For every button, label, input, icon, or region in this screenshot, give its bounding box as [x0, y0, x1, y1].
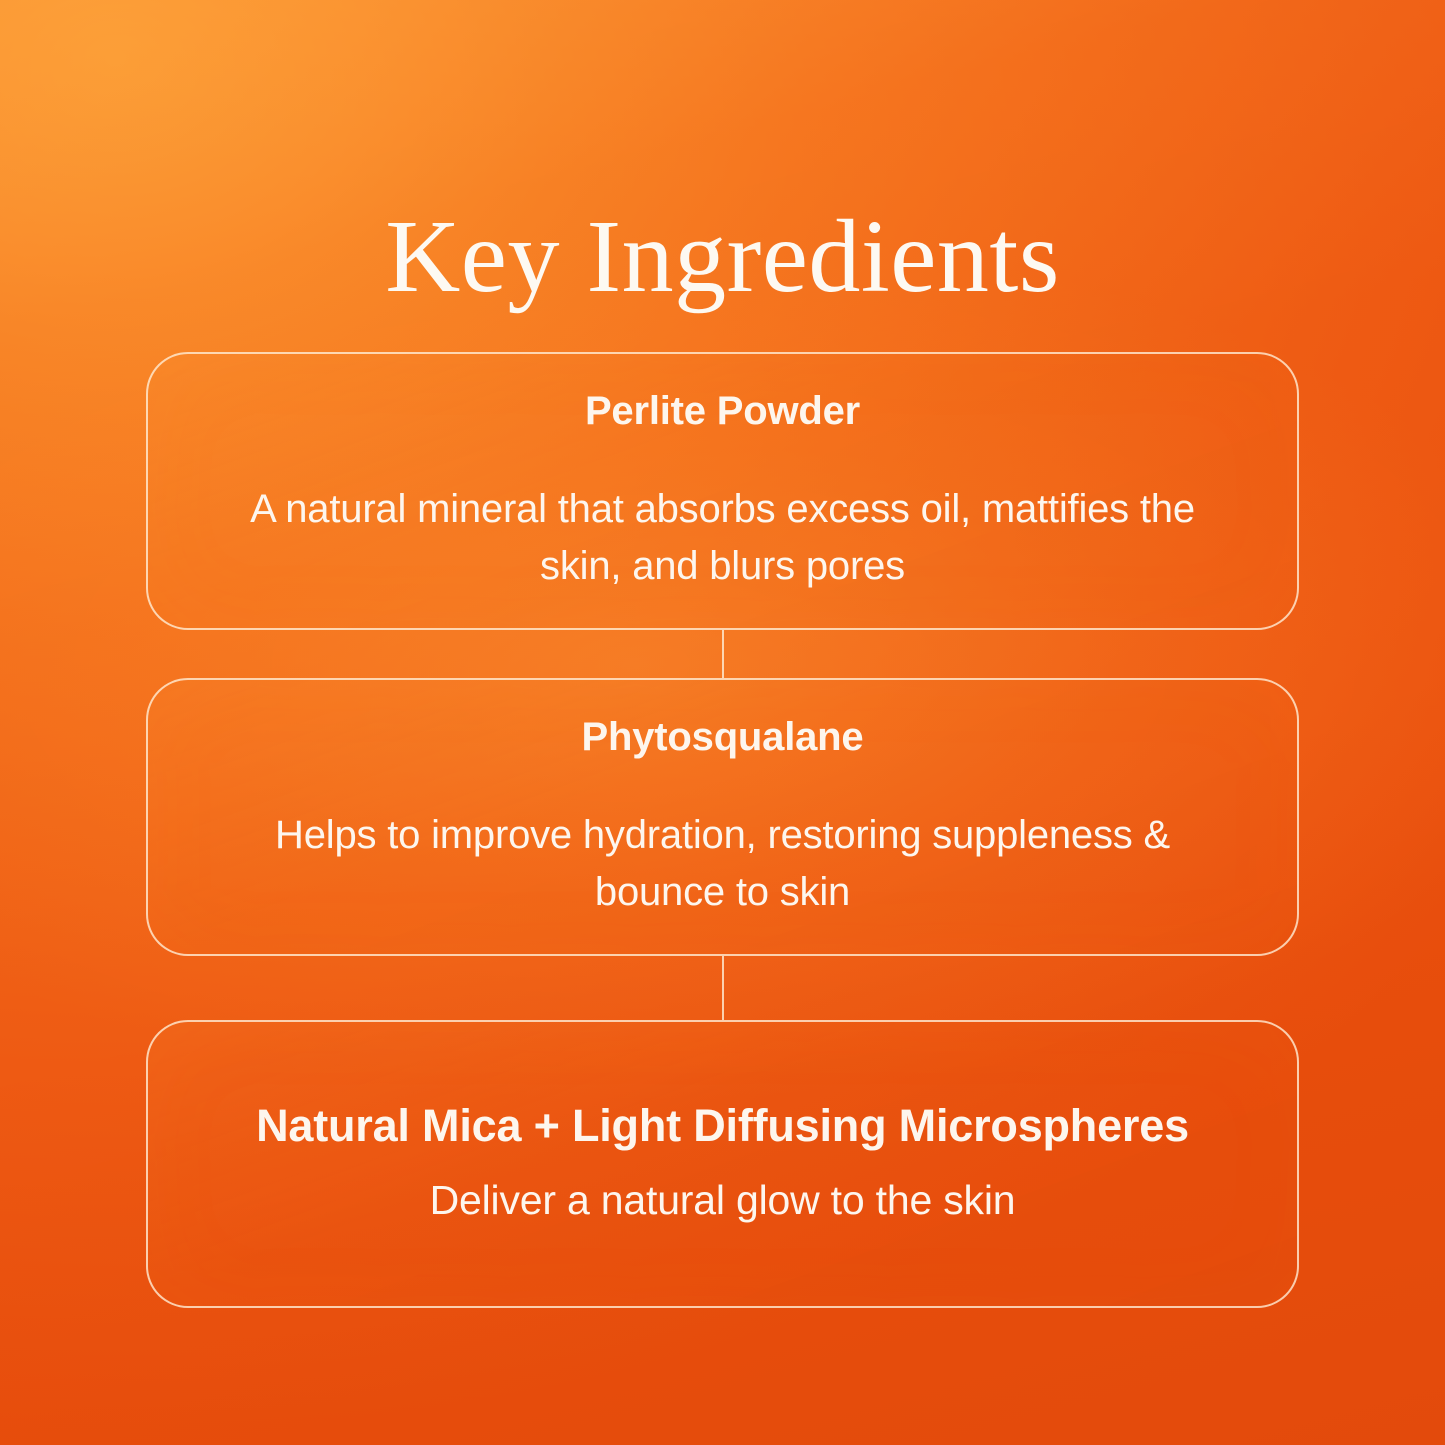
ingredient-card-natural-mica: Natural Mica + Light Diffusing Microsphe… [146, 1020, 1299, 1308]
ingredients-infographic: Key Ingredients Perlite Powder A natural… [0, 0, 1445, 1445]
ingredient-description: Deliver a natural glow to the skin [430, 1171, 1016, 1229]
ingredient-description: Helps to improve hydration, restoring su… [223, 807, 1223, 921]
ingredient-title: Phytosqualane [582, 713, 864, 761]
content-container: Key Ingredients Perlite Powder A natural… [0, 0, 1445, 1445]
connector-line-1 [722, 630, 724, 678]
ingredient-title: Perlite Powder [585, 387, 860, 435]
ingredient-description: A natural mineral that absorbs excess oi… [223, 481, 1223, 595]
connector-line-2 [722, 956, 724, 1020]
page-title: Key Ingredients [0, 202, 1445, 311]
ingredient-card-perlite-powder: Perlite Powder A natural mineral that ab… [146, 352, 1299, 630]
ingredient-card-phytosqualane: Phytosqualane Helps to improve hydration… [146, 678, 1299, 956]
ingredient-title: Natural Mica + Light Diffusing Microsphe… [256, 1099, 1189, 1153]
